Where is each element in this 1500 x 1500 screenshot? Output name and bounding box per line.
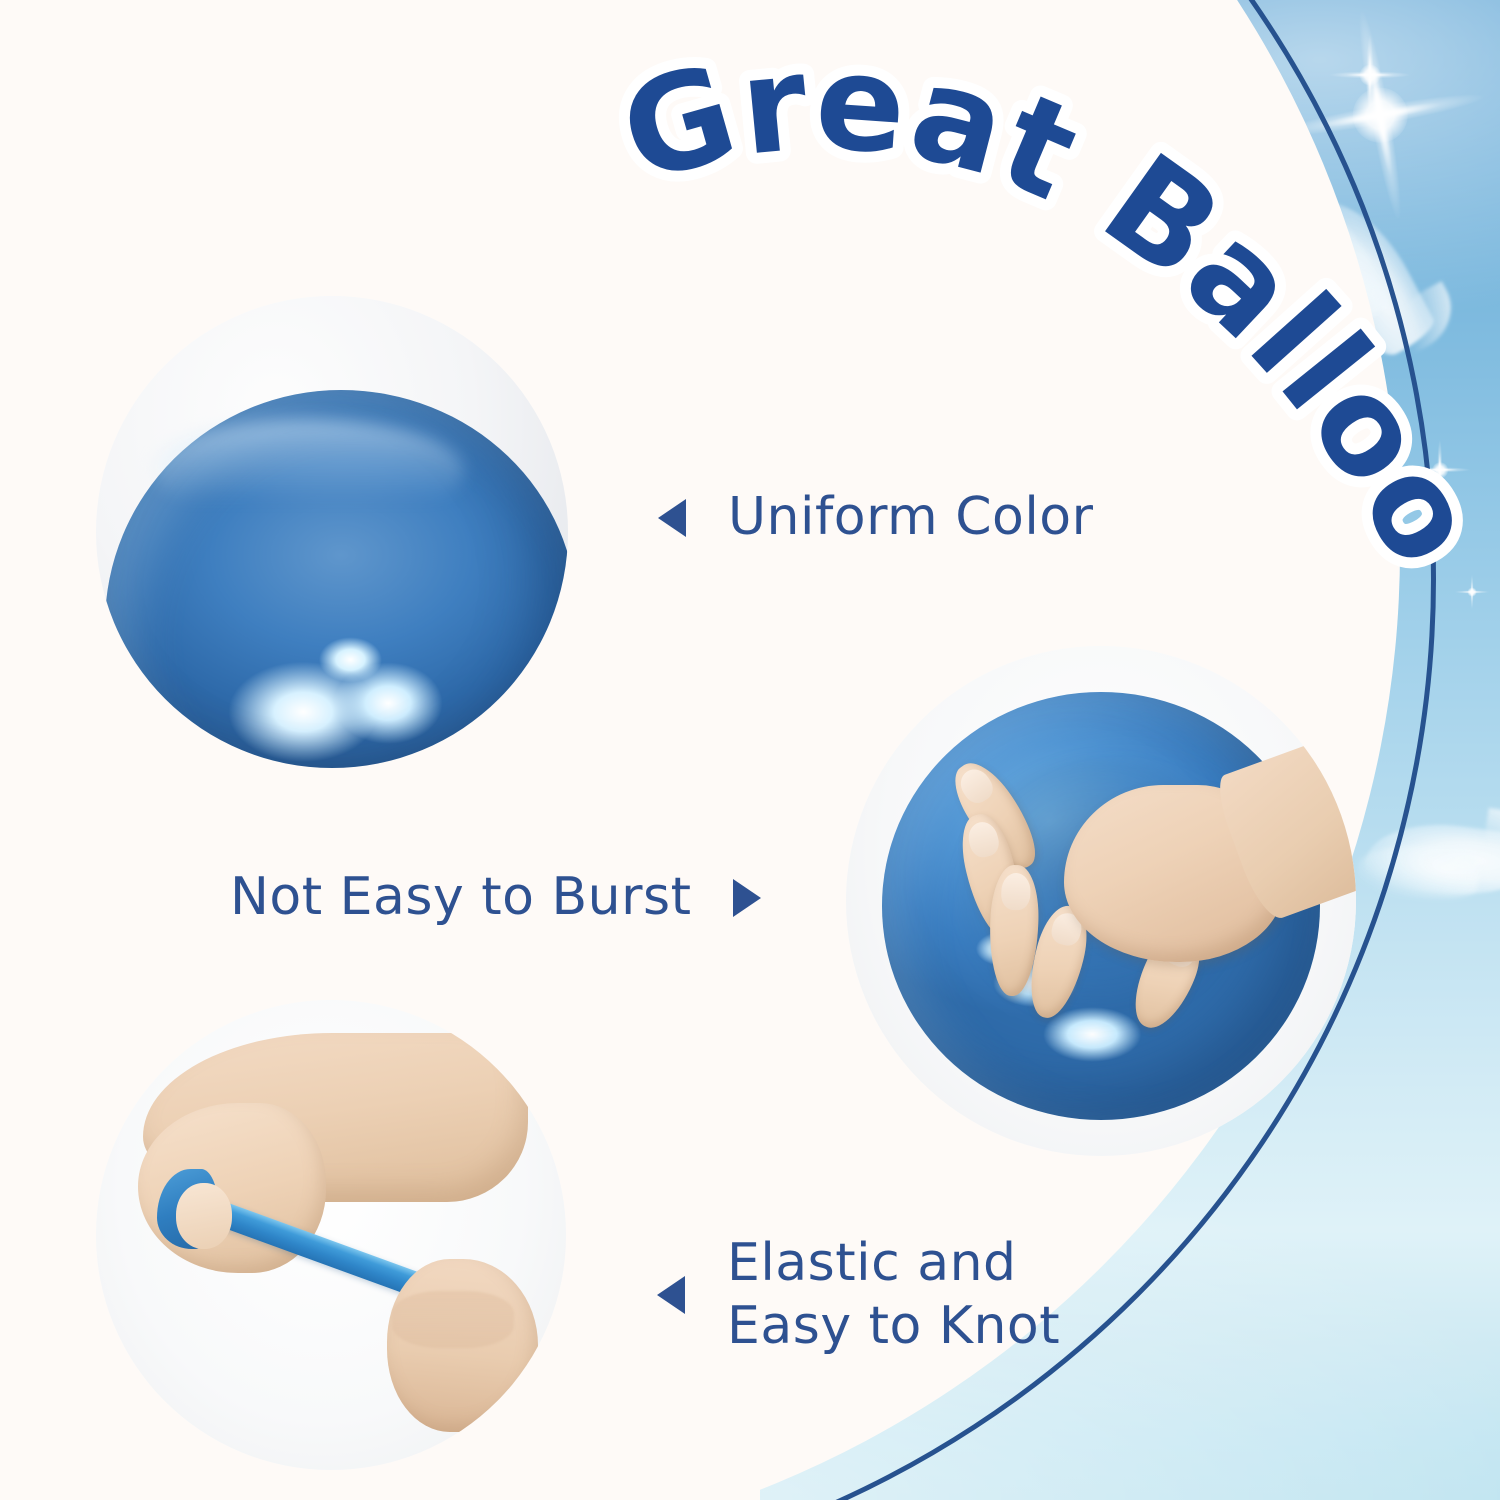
- fingernail: [1001, 872, 1032, 910]
- balloon-closeup-photo: [96, 296, 568, 768]
- left-triangle-icon: [658, 499, 686, 537]
- hand-graphic: [968, 728, 1335, 1014]
- feature-label-text: Uniform Color: [728, 487, 1094, 548]
- hand-pressing-balloon-photo: [846, 646, 1356, 1156]
- knuckles: [392, 1291, 514, 1347]
- feature-label-text: Not Easy to Burst: [230, 867, 691, 928]
- right-triangle-icon: [733, 879, 761, 917]
- hands-stretching-balloon-photo: [96, 1000, 566, 1470]
- feature-label-not-easy-to-burst: Not Easy to Burst: [230, 867, 761, 928]
- feature-label-uniform-color: Uniform Color: [658, 487, 1094, 548]
- infographic-canvas: Uniform Color Not Easy to Burst Elastic …: [0, 0, 1500, 1500]
- fingernail: [955, 764, 998, 808]
- thumb: [176, 1183, 232, 1249]
- balloon-sheen: [153, 419, 465, 523]
- feature-label-elastic-and-easy-to-knot: Elastic and Easy to Knot: [657, 1232, 1060, 1359]
- left-triangle-icon: [657, 1276, 685, 1314]
- fingernail: [965, 819, 1002, 860]
- feature-label-text: Elastic and Easy to Knot: [727, 1232, 1060, 1359]
